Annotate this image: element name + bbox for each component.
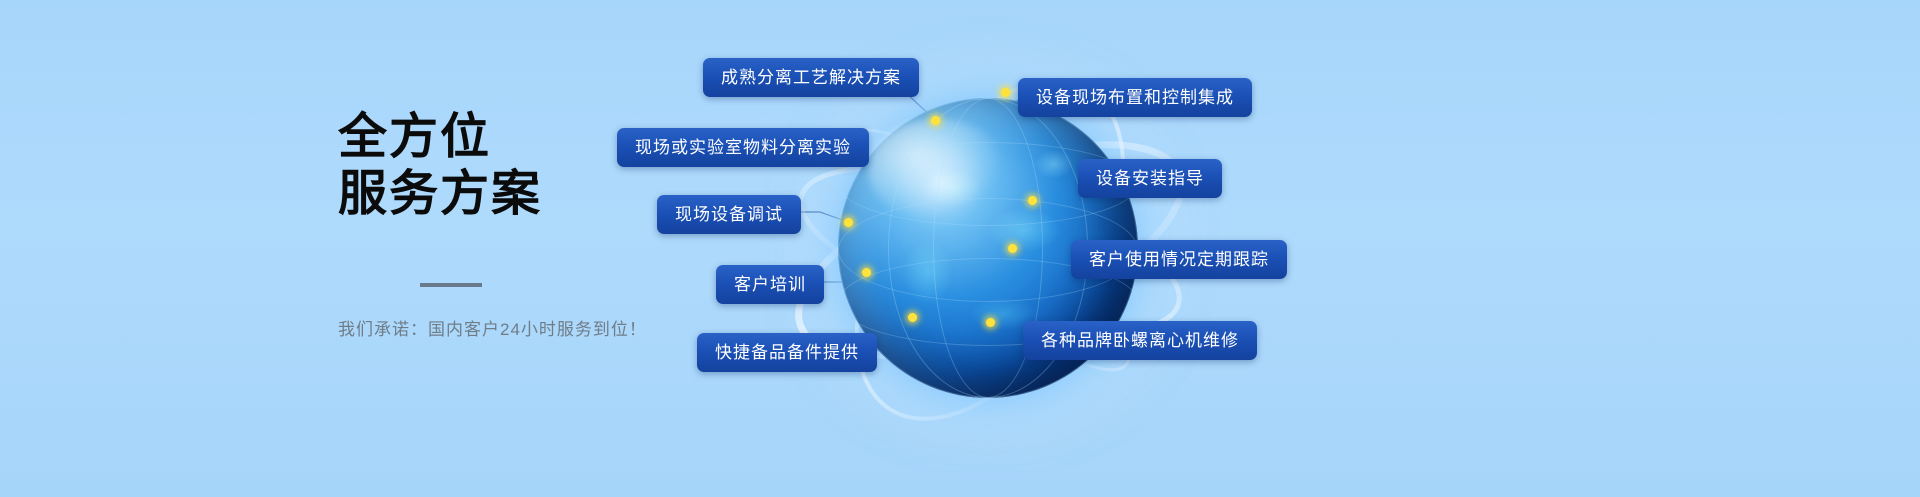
promise-text: 我们承诺：国内客户24小时服务到位！ [338,315,647,340]
node-dot-3 [844,218,853,227]
node-dot-5 [908,313,917,322]
node-dot-8 [1008,244,1017,253]
node-dot-1 [931,116,940,125]
title-divider [420,283,482,287]
label-fast-spare-parts-supply[interactable]: 快捷备品备件提供 [697,333,877,372]
node-dot-4 [862,268,871,277]
globe-highlight [868,119,1006,221]
label-mature-separation-process[interactable]: 成熟分离工艺解决方案 [703,58,919,97]
node-dot-7 [1028,196,1037,205]
label-centrifuge-brand-maintenance[interactable]: 各种品牌卧螺离心机维修 [1023,321,1257,360]
label-onsite-or-lab-material-separation-test[interactable]: 现场或实验室物料分离实验 [617,128,869,167]
node-dot-6 [1001,88,1010,97]
label-equipment-layout-and-control-integration[interactable]: 设备现场布置和控制集成 [1018,78,1252,117]
label-customer-training[interactable]: 客户培训 [716,265,824,304]
node-dot-9 [986,318,995,327]
label-onsite-equipment-commissioning[interactable]: 现场设备调试 [657,195,801,234]
label-periodic-usage-followup[interactable]: 客户使用情况定期跟踪 [1071,240,1287,279]
label-equipment-installation-guidance[interactable]: 设备安装指导 [1078,159,1222,198]
service-banner: 全方位 服务方案 我们承诺：国内客户24小时服务到位！ [0,0,1920,497]
